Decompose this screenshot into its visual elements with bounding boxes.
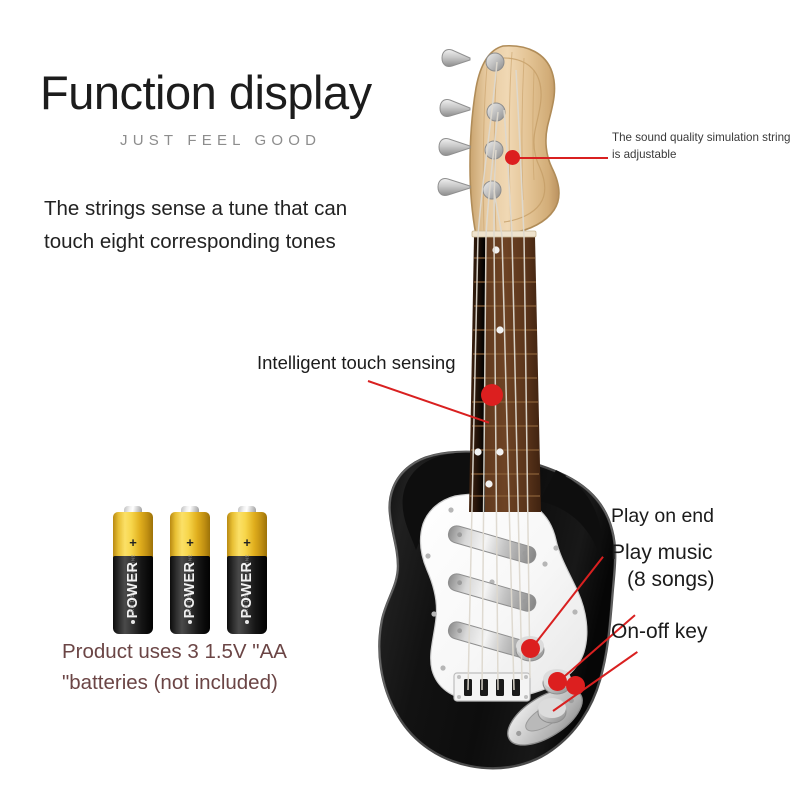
bridge [454, 673, 530, 701]
callout-play-music-line1: Play music [611, 541, 713, 564]
intro-text: The strings sense a tune that can touch … [44, 192, 384, 258]
headstock [470, 46, 559, 237]
callout-dot-sound-quality[interactable] [505, 150, 520, 165]
callout-dot-play-on-end[interactable] [521, 639, 540, 658]
battery-body: ALKALINE POWER LR6 1.5V [113, 556, 153, 634]
battery-caption: Product uses 3 1.5V "AA "batteries (not … [62, 636, 392, 698]
battery-body: ALKALINE POWER LR6 1.5V [170, 556, 210, 634]
page-subtitle: JUST FEEL GOOD [120, 132, 321, 149]
battery-1: + ALKALINE POWER LR6 1.5V [113, 506, 153, 634]
battery-negative-mark [245, 620, 249, 624]
battery-negative-mark [131, 620, 135, 624]
infographic-canvas: Function display JUST FEEL GOOD The stri… [0, 0, 800, 800]
battery-negative-mark [188, 620, 192, 624]
page-title: Function display [40, 68, 372, 117]
callout-touch-sensing: Intelligent touch sensing [257, 350, 457, 376]
battery-sub-label: LR6 1.5V [130, 569, 136, 637]
tuner-1 [442, 49, 504, 71]
callout-sound-quality: The sound quality simulation string is a… [612, 130, 792, 164]
battery-sub-label: LR6 1.5V [187, 569, 193, 637]
callout-play-on-end: Play on end [611, 505, 714, 528]
callout-play-music-line2: (8 songs) [611, 567, 715, 594]
battery-2: + ALKALINE POWER LR6 1.5V [170, 506, 210, 634]
battery-sub-label: LR6 1.5V [244, 569, 250, 637]
battery-caption-line1: Product uses 3 1.5V "AA [62, 640, 287, 663]
battery-body: ALKALINE POWER LR6 1.5V [227, 556, 267, 634]
battery-caption-line2: "batteries (not included) [62, 671, 278, 694]
leader-line-sound-quality [512, 157, 608, 159]
callout-dot-on-off-key[interactable] [566, 676, 585, 695]
callout-play-music: Play music (8 songs) [611, 540, 715, 594]
callout-dot-play-music[interactable] [548, 672, 567, 691]
callout-on-off-key: On-off key [611, 620, 708, 644]
battery-3: + ALKALINE POWER LR6 1.5V [227, 506, 267, 634]
battery-group: + ALKALINE POWER LR6 1.5V + ALKALINE POW… [113, 506, 283, 634]
callout-dot-touch-sensing[interactable] [481, 384, 503, 406]
